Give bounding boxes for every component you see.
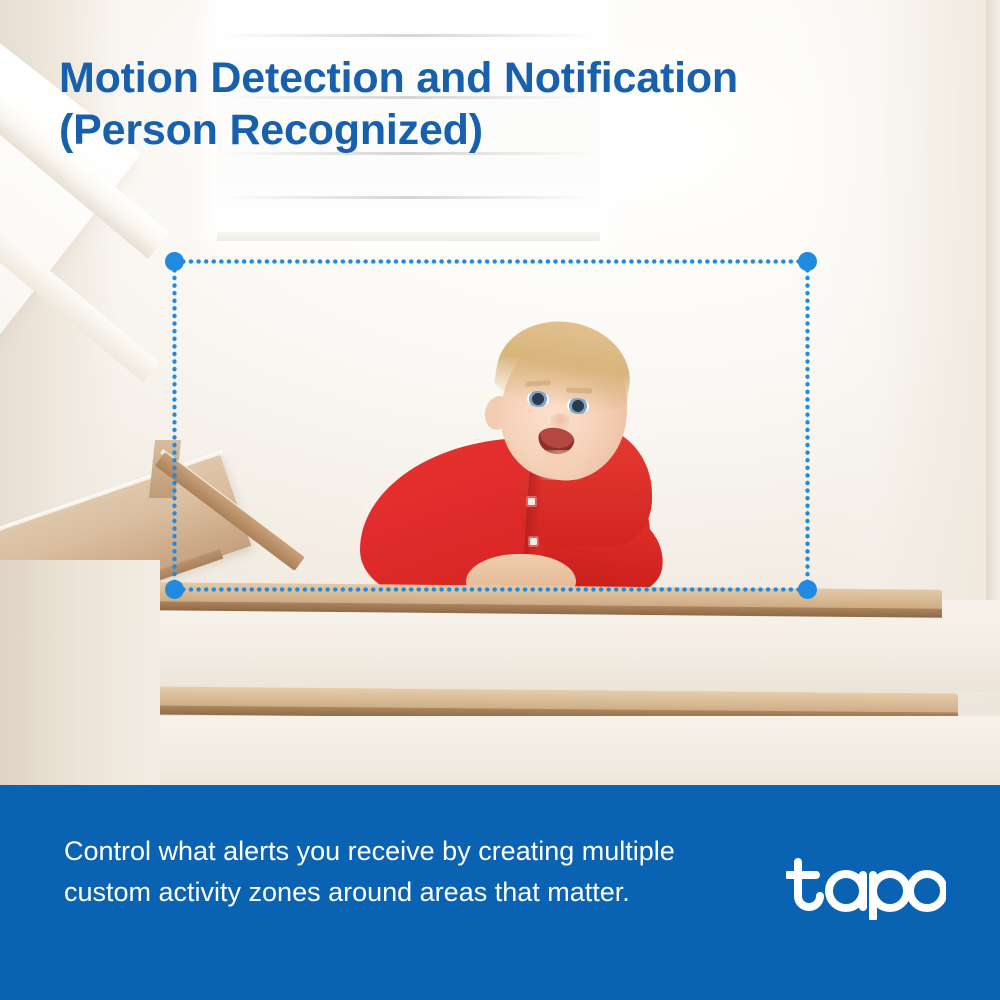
- banner-description: Control what alerts you receive by creat…: [64, 831, 744, 913]
- zone-handle-bottom-left[interactable]: [165, 580, 184, 599]
- zone-edge-right[interactable]: [805, 259, 810, 592]
- tapo-logo: [786, 858, 946, 920]
- window-slat: [222, 34, 594, 37]
- zone-edge-top[interactable]: [172, 259, 810, 264]
- window-slat: [222, 196, 594, 199]
- zone-edge-bottom[interactable]: [172, 587, 810, 592]
- stair-sidewall: [0, 560, 160, 785]
- window-sill: [217, 232, 600, 241]
- window-valance: [217, 0, 600, 12]
- zone-handle-bottom-right[interactable]: [798, 580, 817, 599]
- wall-corner: [986, 0, 1000, 640]
- activity-zone-overlay[interactable]: [172, 259, 810, 592]
- zone-handle-top-left[interactable]: [165, 252, 184, 271]
- zone-edge-left[interactable]: [172, 259, 177, 592]
- stair-riser-2: [140, 716, 1000, 785]
- zone-handle-top-right[interactable]: [798, 252, 817, 271]
- page-title: Motion Detection and Notification (Perso…: [59, 52, 889, 157]
- promo-graphic: Motion Detection and Notification (Perso…: [0, 0, 1000, 1000]
